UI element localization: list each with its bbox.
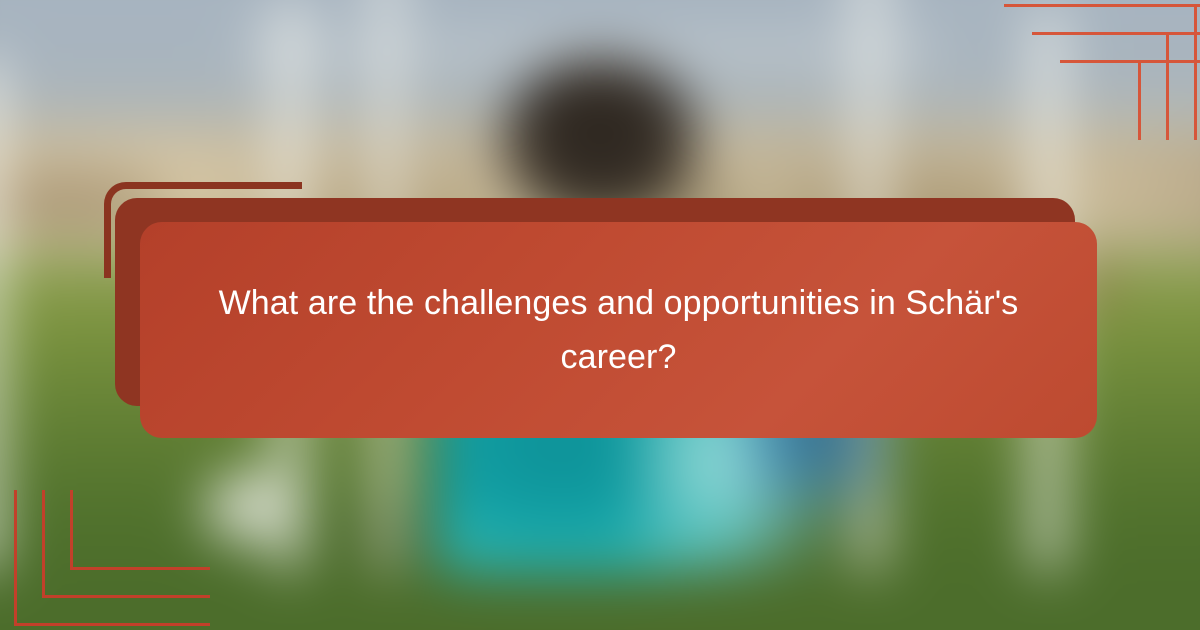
- card-outline-bracket-cap: [104, 268, 111, 278]
- soccer-ball: [202, 470, 298, 550]
- goal-post: [0, 60, 10, 570]
- social-card-canvas: What are the challenges and opportunitie…: [0, 0, 1200, 630]
- card-outline-bracket-cap: [290, 182, 300, 189]
- headline-card: What are the challenges and opportunitie…: [140, 222, 1097, 438]
- headline-text: What are the challenges and opportunitie…: [209, 276, 1029, 384]
